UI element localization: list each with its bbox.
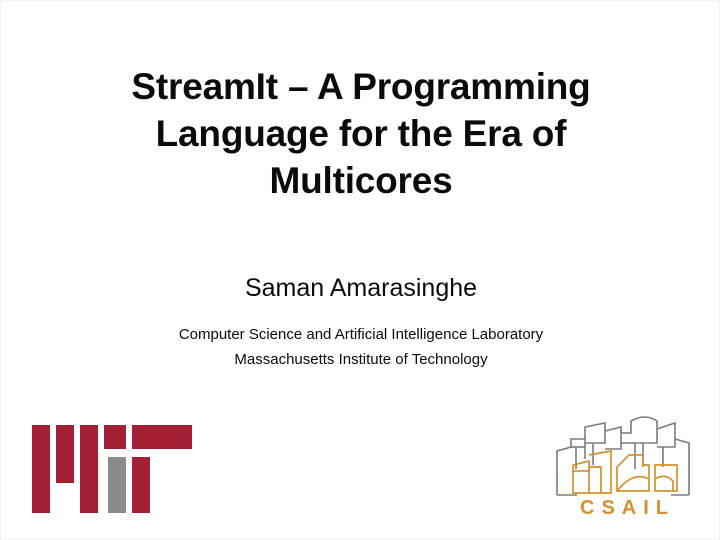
mit-logo <box>29 421 199 516</box>
mit-logo-bar-m-left <box>32 425 50 513</box>
affiliation-block: Computer Science and Artificial Intellig… <box>61 322 661 372</box>
mit-logo-bar-i-stem <box>108 457 126 513</box>
title-line-2: Language for the Era of <box>61 110 661 157</box>
mit-logo-bar-t-crossbar <box>132 425 192 449</box>
author-name: Saman Amarasinghe <box>61 273 661 304</box>
csail-logo: CSAIL <box>549 409 699 534</box>
mit-logo-bar-t-stem <box>132 457 150 513</box>
title-line-1: StreamIt – A Programming <box>61 63 661 110</box>
title-line-3: Multicores <box>61 157 661 204</box>
affiliation-line-1: Computer Science and Artificial Intellig… <box>61 322 661 347</box>
affiliation-line-2: Massachusetts Institute of Technology <box>61 347 661 372</box>
title-slide: StreamIt – A Programming Language for th… <box>0 0 720 540</box>
mit-logo-bar-m-middle <box>56 425 74 483</box>
author-block: Saman Amarasinghe Computer Science and A… <box>61 273 661 372</box>
mit-logo-bar-i-dot <box>104 425 126 449</box>
mit-logo-bar-m-right <box>80 425 98 513</box>
page-title: StreamIt – A Programming Language for th… <box>61 63 661 204</box>
csail-building-icon <box>549 409 699 504</box>
csail-wordmark: CSAIL <box>549 497 699 520</box>
